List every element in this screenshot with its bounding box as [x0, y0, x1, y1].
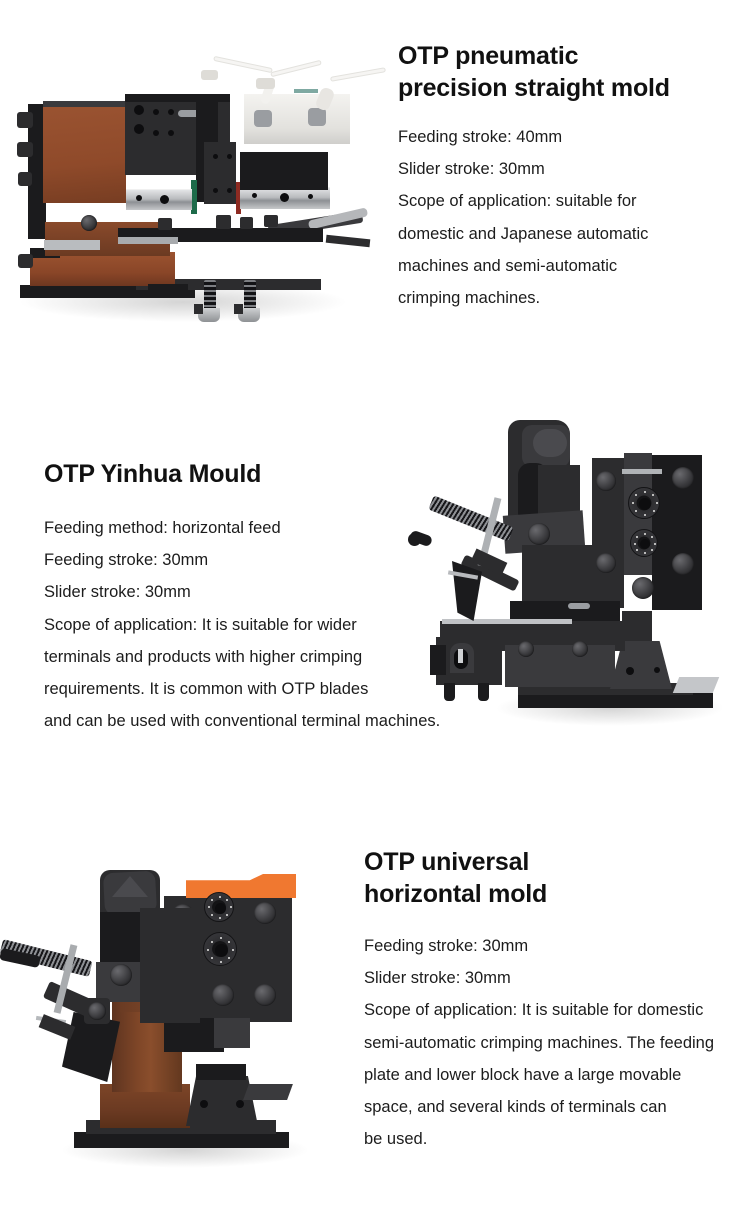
- orange-top-plate: [186, 874, 296, 898]
- text-block-pneumatic-straight-mold: OTP pneumatic precision straight mold Fe…: [398, 40, 738, 314]
- adjustment-dial-upper: [628, 487, 660, 519]
- section-title-line-2: precision straight mold: [398, 72, 738, 104]
- adjustment-dial-lower: [630, 529, 658, 557]
- section-title-line-1: OTP universal: [364, 846, 744, 878]
- section-title: OTP pneumatic precision straight mold: [398, 40, 738, 104]
- spec-line: Feeding stroke: 40mm: [398, 121, 738, 153]
- spec-line: Scope of application: suitable for: [398, 185, 738, 217]
- adjustment-dial-upper: [204, 892, 234, 922]
- product-image-yinhua-mould: [400, 405, 750, 735]
- section-title: OTP universal horizontal mold: [364, 846, 744, 910]
- spec-line: machines and semi-automatic: [398, 250, 738, 282]
- spec-line: domestic and Japanese automatic: [398, 218, 738, 250]
- product-image-pneumatic-straight-mold: [8, 32, 380, 317]
- product-image-universal-horizontal-mold: [0, 832, 350, 1172]
- spec-line: plate and lower block have a large movab…: [364, 1059, 744, 1091]
- section-otp-pneumatic-precision-straight-mold: OTP pneumatic precision straight mold Fe…: [0, 0, 750, 390]
- section-otp-universal-horizontal-mold: OTP universal horizontal mold Feeding st…: [0, 810, 750, 1229]
- section-title-line-1: OTP pneumatic: [398, 40, 738, 72]
- spec-line: Slider stroke: 30mm: [398, 153, 738, 185]
- product-spec-sheet: OTP pneumatic precision straight mold Fe…: [0, 0, 750, 1229]
- adjustment-dial-lower: [203, 932, 237, 966]
- section-otp-yinhua-mould: OTP Yinhua Mould Feeding method: horizon…: [0, 390, 750, 810]
- section-title-line-2: horizontal mold: [364, 878, 744, 910]
- spec-line: Scope of application: It is suitable for…: [364, 994, 744, 1026]
- spec-line: be used.: [364, 1123, 744, 1155]
- spec-line: space, and several kinds of terminals ca…: [364, 1091, 744, 1123]
- spec-line: crimping machines.: [398, 282, 738, 314]
- spec-list: Feeding stroke: 40mm Slider stroke: 30mm…: [398, 121, 738, 314]
- spec-line: Slider stroke: 30mm: [364, 962, 744, 994]
- spec-list: Feeding stroke: 30mm Slider stroke: 30mm…: [364, 930, 744, 1155]
- text-block-universal-horizontal-mold: OTP universal horizontal mold Feeding st…: [364, 846, 744, 1155]
- spec-line: Feeding stroke: 30mm: [364, 930, 744, 962]
- spec-line: semi-automatic crimping machines. The fe…: [364, 1027, 744, 1059]
